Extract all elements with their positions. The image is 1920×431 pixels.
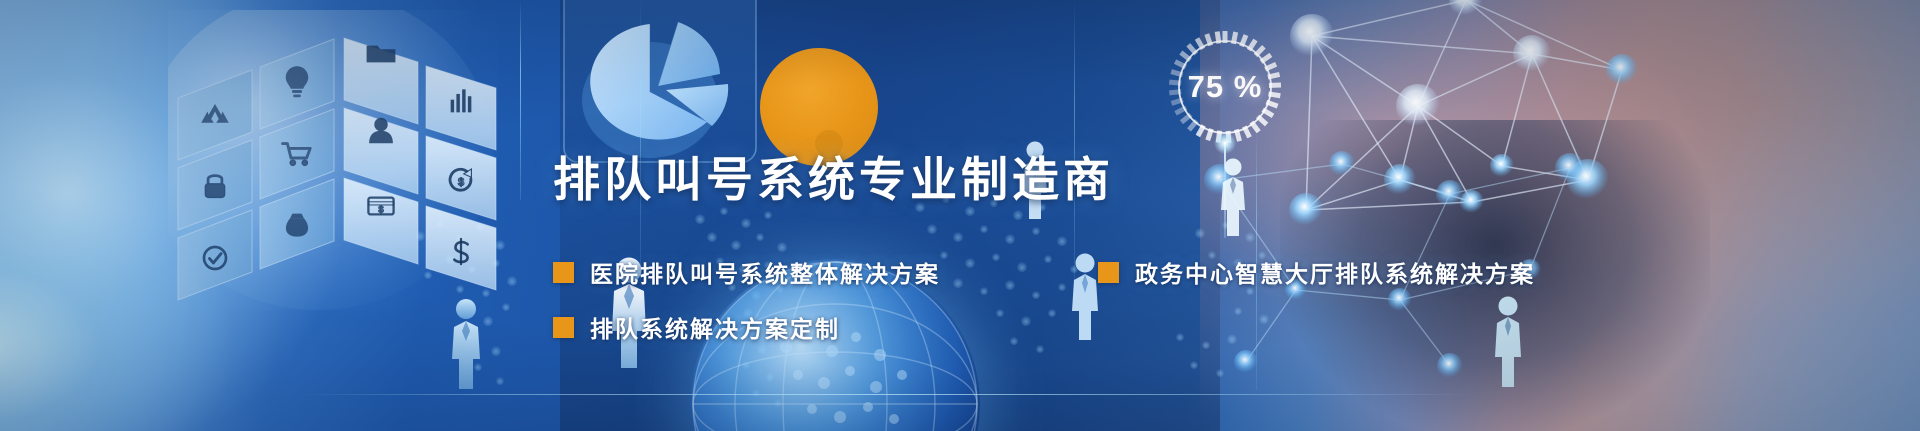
bullet-square-icon <box>553 317 574 338</box>
feature-bullet-label: 医院排队叫号系统整体解决方案 <box>590 255 940 289</box>
feature-bullet-label: 政务中心智慧大厅排队系统解决方案 <box>1135 255 1535 289</box>
bullet-square-icon <box>553 262 574 283</box>
feature-bullet-government: 政务中心智慧大厅排队系统解决方案 <box>1098 255 1535 289</box>
feature-bullet-custom: 排队系统解决方案定制 <box>553 310 840 344</box>
bullet-square-icon <box>1098 262 1119 283</box>
feature-bullet-hospital: 医院排队叫号系统整体解决方案 <box>553 255 940 289</box>
banner-content: 排队叫号系统专业制造商 医院排队叫号系统整体解决方案 排队系统解决方案定制 政务… <box>0 0 1920 431</box>
promo-banner: $ $ <box>0 0 1920 431</box>
page-title: 排队叫号系统专业制造商 <box>553 157 1114 204</box>
feature-bullet-label: 排队系统解决方案定制 <box>590 310 840 344</box>
